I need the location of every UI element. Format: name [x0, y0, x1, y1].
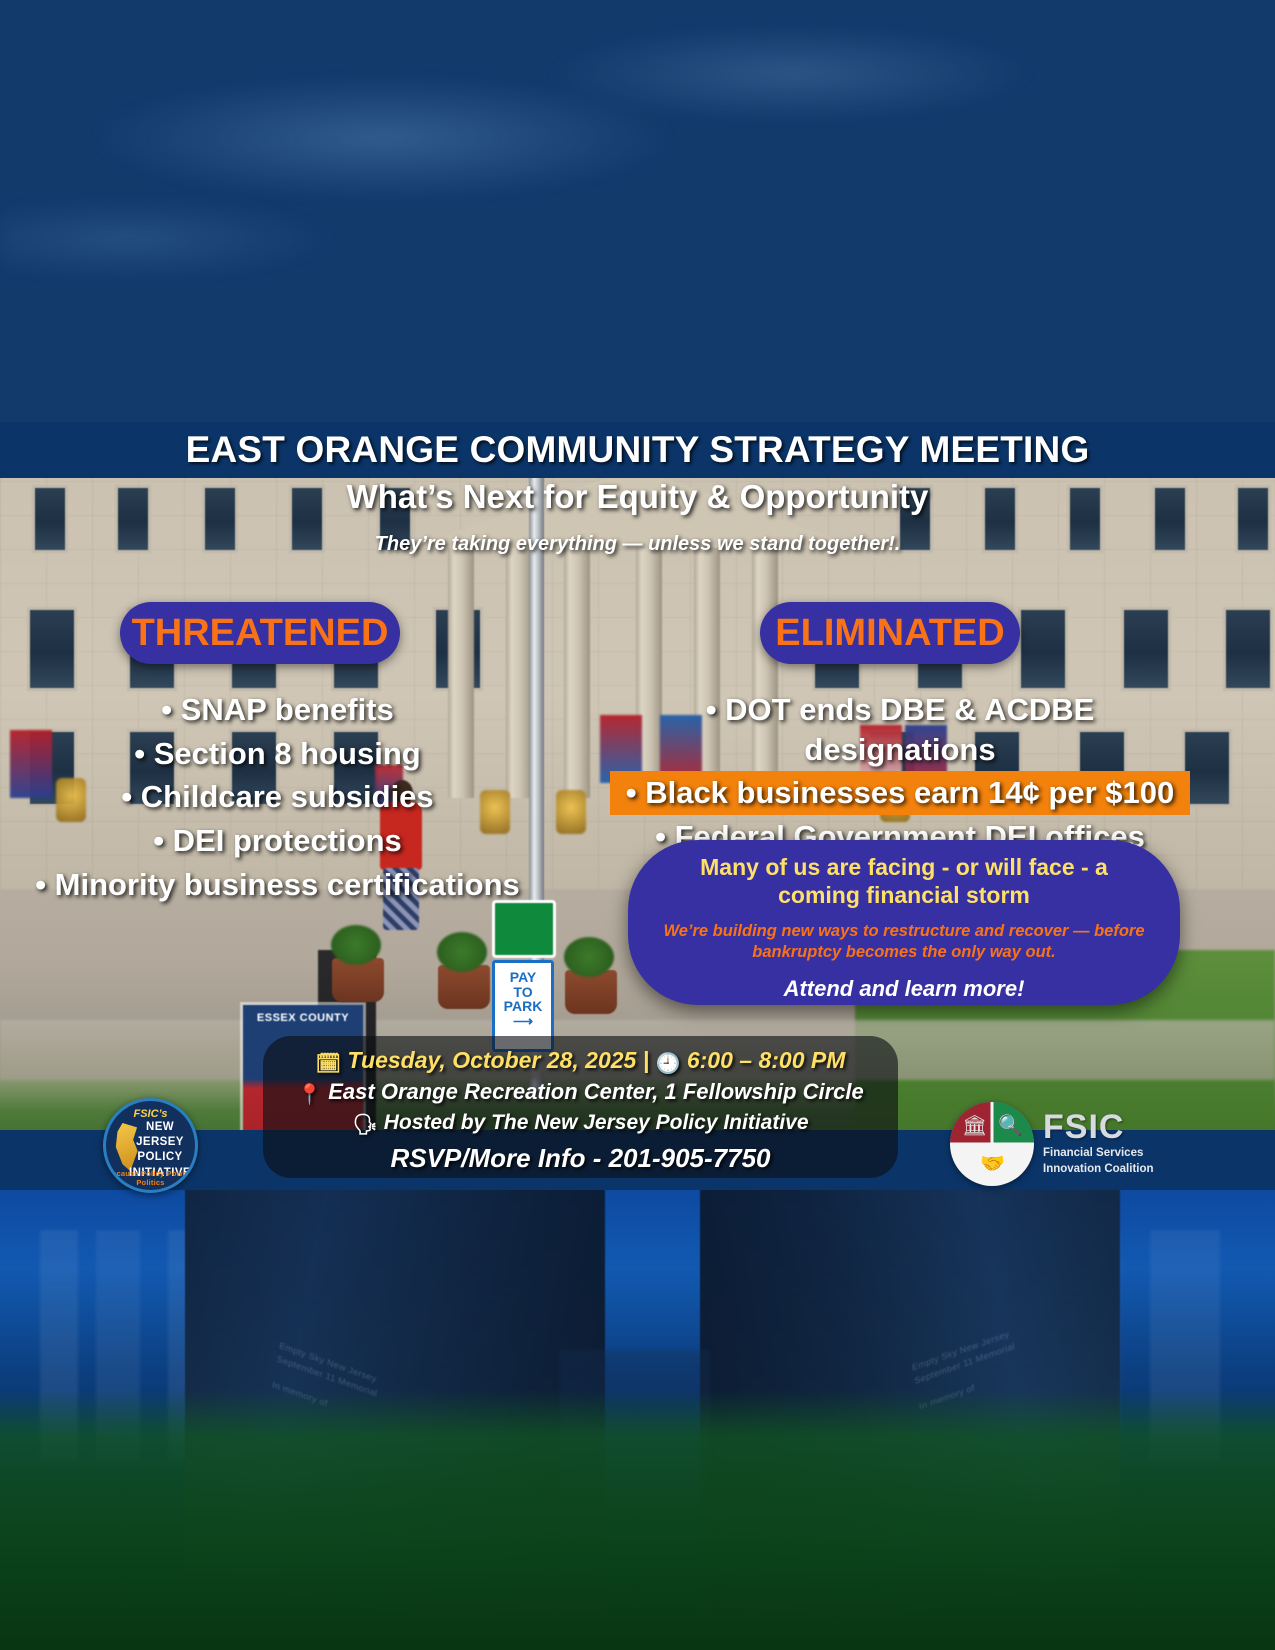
shrub-3 — [331, 925, 381, 965]
njpi-line-3: POLICY — [129, 1150, 191, 1165]
shrub-1 — [437, 932, 487, 972]
eliminated-pill-label: ELIMINATED — [775, 612, 1004, 655]
location-pin-icon: 📍 — [297, 1084, 322, 1106]
njpi-logo-fsics-text: FSIC’s — [106, 1108, 195, 1120]
eliminated-pill-badge: ELIMINATED — [760, 602, 1020, 664]
lamp-right — [556, 790, 586, 834]
shrub-2 — [564, 937, 614, 977]
eliminated-item: • DOT ends DBE & ACDBE designations — [610, 688, 1190, 771]
threatened-pill-badge: THREATENED — [120, 602, 400, 664]
handshake-icon: 🤝 — [980, 1154, 1005, 1174]
threatened-item: • DEI protections — [10, 819, 545, 863]
threatened-item: • Minority business certifications — [10, 863, 545, 907]
storm-headline: Many of us are facing - or will face - a… — [658, 854, 1150, 909]
storm-subtext: We’re building new ways to restructure a… — [658, 921, 1150, 962]
fsic-name-line-2: Innovation Coalition — [1043, 1162, 1154, 1176]
event-host-line: 🗣 Hosted by The New Jersey Policy Initia… — [263, 1109, 898, 1138]
fsic-logo-text: FSIC Financial Services Innovation Coali… — [1043, 1111, 1154, 1176]
event-venue: East Orange Recreation Center, 1 Fellows… — [328, 1079, 864, 1104]
event-details-box: 🗓 Tuesday, October 28, 2025 | 🕘 6:00 – 8… — [263, 1036, 898, 1178]
calendar-icon: 🗓 — [316, 1053, 341, 1075]
page-title: EAST ORANGE COMMUNITY STRATEGY MEETING — [186, 429, 1090, 471]
threatened-pill-label: THREATENED — [132, 612, 389, 655]
event-date: Tuesday, October 28, 2025 | — [347, 1047, 649, 1073]
eliminated-item-highlighted: • Black businesses earn 14¢ per $100 — [610, 771, 1190, 815]
financial-storm-callout: Many of us are facing - or will face - a… — [628, 840, 1180, 1005]
green-street-sign — [492, 900, 556, 958]
page-subtitle: What’s Next for Equity & Opportunity — [0, 478, 1275, 516]
threatened-item: • Section 8 housing — [10, 732, 545, 776]
njpi-logo-tagline: Because Policy Powers Politics — [106, 1169, 195, 1187]
threatened-item: • SNAP benefits — [10, 688, 545, 732]
event-rsvp-line[interactable]: RSVP/More Info - 201-905-7750 — [263, 1141, 898, 1175]
clock-icon: 🕘 — [656, 1053, 681, 1075]
memorial-photo-background: Empty Sky New JerseySeptember 11 Memoria… — [0, 1190, 1275, 1650]
capitol-icon: 🏛 — [962, 1116, 987, 1136]
threatened-item: • Childcare subsidies — [10, 775, 545, 819]
search-icon: 🔍 — [998, 1116, 1023, 1136]
event-venue-line: 📍 East Orange Recreation Center, 1 Fello… — [263, 1077, 898, 1108]
kiosk-label: ESSEX COUNTY — [243, 1005, 363, 1024]
event-datetime-line: 🗓 Tuesday, October 28, 2025 | 🕘 6:00 – 8… — [263, 1045, 898, 1077]
sky-photo-background — [0, 0, 1275, 460]
fsic-name-line-1: Financial Services — [1043, 1146, 1154, 1160]
title-banner: EAST ORANGE COMMUNITY STRATEGY MEETING — [0, 422, 1275, 478]
fsic-acronym: FSIC — [1043, 1111, 1154, 1143]
speaker-icon: 🗣 — [352, 1114, 377, 1136]
storm-cta: Attend and learn more! — [658, 976, 1150, 1002]
memorial-blue-tint — [0, 1190, 1275, 1650]
event-host: Hosted by The New Jersey Policy Initiati… — [384, 1111, 809, 1134]
njpi-line-1: NEW — [129, 1120, 191, 1135]
fsic-logo-mark: 🏛 🔍 🤝 — [950, 1102, 1034, 1186]
event-time: 6:00 – 8:00 PM — [687, 1047, 846, 1073]
fsic-logo[interactable]: 🏛 🔍 🤝 FSIC Financial Services Innovation… — [950, 1098, 1165, 1190]
njpi-line-2: JERSEY — [129, 1135, 191, 1150]
njpi-logo[interactable]: FSIC’s NEW JERSEY POLICY INITIATIVE Beca… — [103, 1098, 198, 1193]
page-tagline: They’re taking everything — unless we st… — [0, 533, 1275, 556]
flyer-canvas: ESSEX COUNTY PAYTOPARK⟶ Empty Sky New Je… — [0, 0, 1275, 1650]
eliminated-list: • DOT ends DBE & ACDBE designations • Bl… — [610, 688, 1190, 859]
threatened-list: • SNAP benefits • Section 8 housing • Ch… — [10, 688, 545, 906]
